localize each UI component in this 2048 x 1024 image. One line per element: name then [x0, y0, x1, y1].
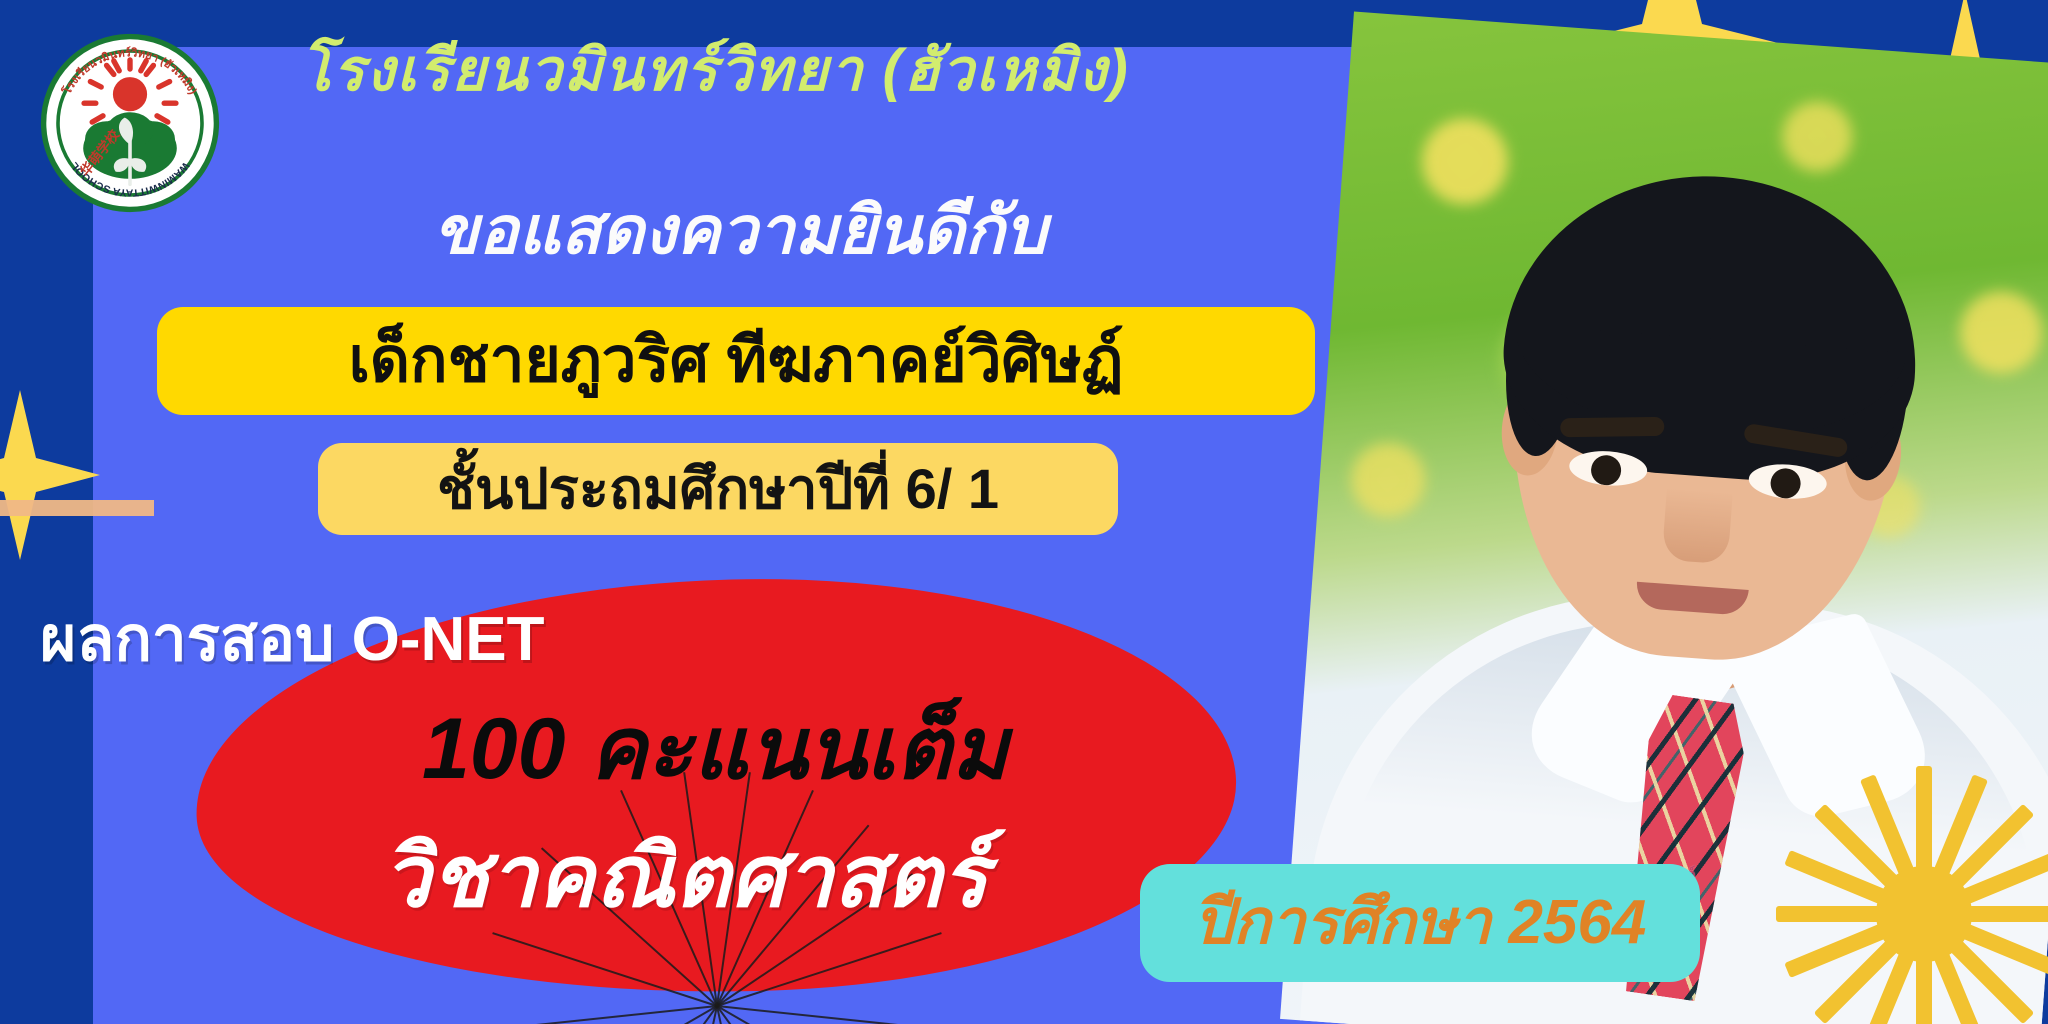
score-text: 100 คะแนนเต็ม — [210, 700, 1220, 798]
school-name: โรงเรียนวมินทร์วิทยา (ฮัวเหมิง) — [300, 38, 1310, 104]
student-name: เด็กชายภูวริศ ทีฆภาคย์วิศิษฏ์ — [349, 326, 1124, 396]
nose — [1662, 488, 1733, 565]
academic-year: ปีการศึกษา 2564 — [1194, 887, 1647, 959]
onet-result-label: ผลการสอบ O-NET — [40, 604, 545, 676]
academic-year-badge: ปีการศึกษา 2564 — [1140, 864, 1700, 982]
class-level-pill: ชั้นประถมศึกษาปีที่ 6/ 1 — [318, 443, 1118, 535]
sunburst-icon — [1774, 764, 2048, 1024]
poster-canvas: ภูวริศ ทีฆภาคย์วิศิษฏ์ — [0, 0, 2048, 1024]
subject-text: วิชาคณิตศาสตร์ — [180, 828, 1190, 926]
school-logo: โรงเรียนวมินทร์วิทยา (ฮัวเหมิง) WAMINWIT… — [40, 33, 220, 213]
accent-bar — [0, 500, 154, 516]
student-name-pill: เด็กชายภูวริศ ทีฆภาคย์วิศิษฏ์ — [157, 307, 1315, 415]
eyebrow-left — [1560, 417, 1664, 437]
congratulation-text: ขอแสดงความยินดีกับ — [180, 190, 1300, 270]
class-level: ชั้นประถมศึกษาปีที่ 6/ 1 — [437, 457, 999, 521]
